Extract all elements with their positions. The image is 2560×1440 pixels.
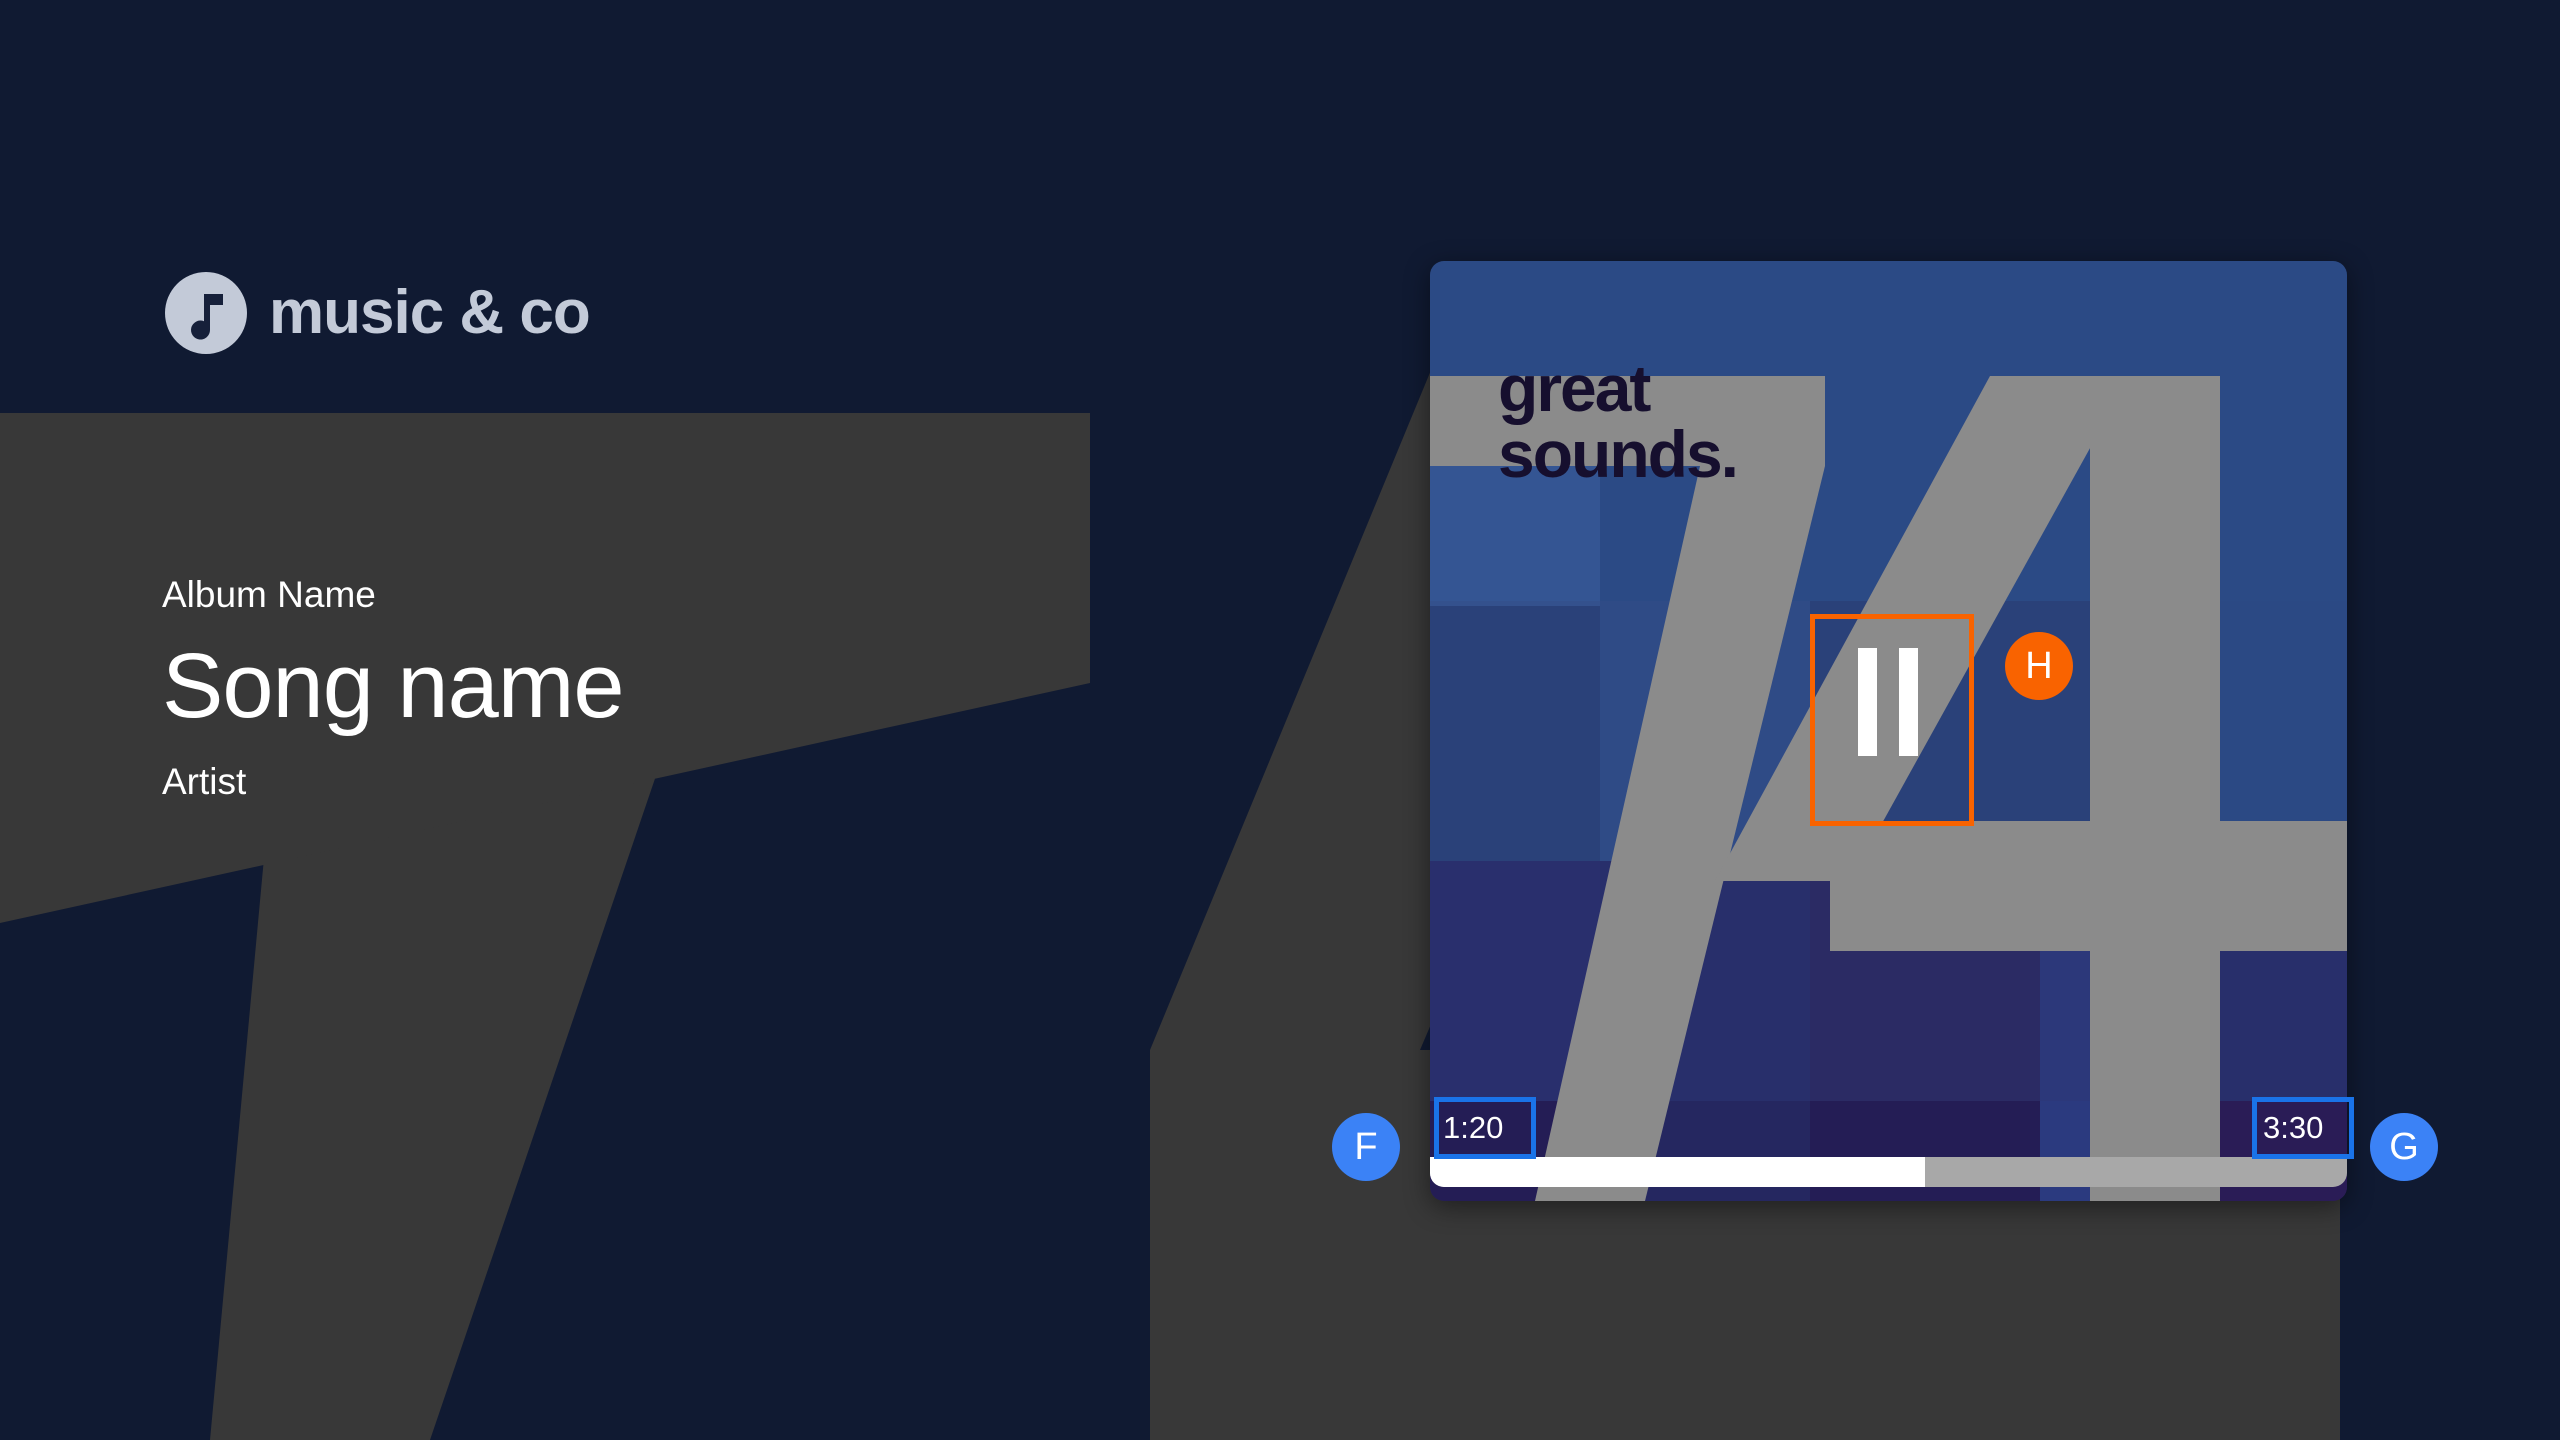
progress-bar[interactable] (1430, 1157, 2347, 1187)
annotation-badge-f: F (1332, 1113, 1400, 1181)
artist-name: Artist (162, 762, 624, 803)
pause-button[interactable] (1848, 648, 1928, 756)
music-note-icon (165, 272, 247, 354)
pause-icon-bar-right (1899, 648, 1918, 756)
pause-icon-bar-left (1858, 648, 1877, 756)
album-art-headline: great sounds. (1498, 355, 1737, 487)
track-metadata: Album Name Song name Artist (162, 575, 624, 803)
time-current-label: 1:20 (1443, 1112, 1503, 1143)
time-total-label: 3:30 (2263, 1112, 2323, 1143)
song-title: Song name (162, 638, 624, 735)
annotation-badge-g: G (2370, 1113, 2438, 1181)
annotation-badge-h: H (2005, 632, 2073, 700)
brand-logo[interactable]: music & co (165, 272, 590, 354)
music-player-screen: music & co Album Name Song name Artist (0, 0, 2560, 1440)
album-name: Album Name (162, 575, 624, 616)
brand-name: music & co (269, 282, 590, 344)
progress-bar-fill (1430, 1157, 1925, 1187)
